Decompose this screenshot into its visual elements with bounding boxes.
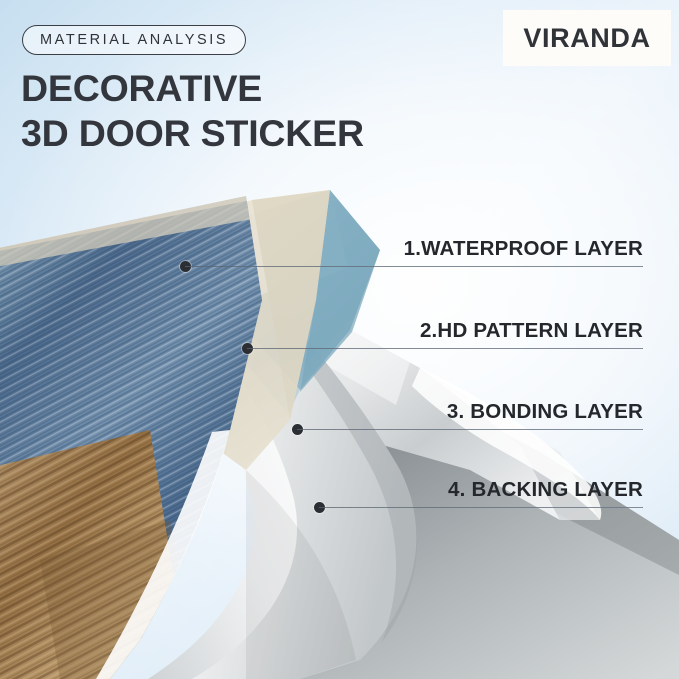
brand-name: VIRANDA <box>523 23 650 54</box>
title-line-2: 3D DOOR STICKER <box>21 111 364 156</box>
brand-logo-box: VIRANDA <box>503 10 671 66</box>
callout-bonding: 3. BONDING LAYER <box>297 396 643 430</box>
poster-canvas: MATERIAL ANALYSIS DECORATIVE 3D DOOR STI… <box>0 0 679 679</box>
page-title: DECORATIVE 3D DOOR STICKER <box>21 66 364 156</box>
callout-hd-pattern: 2.HD PATTERN LAYER <box>247 315 643 349</box>
material-analysis-badge: MATERIAL ANALYSIS <box>22 25 246 55</box>
callout-label-waterproof: 1.WATERPROOF LAYER <box>404 237 643 261</box>
callout-label-backing: 4. BACKING LAYER <box>448 478 643 502</box>
callout-backing: 4. BACKING LAYER <box>319 474 643 508</box>
callout-rule-backing <box>319 507 643 508</box>
callout-rule-hd-pattern <box>247 348 643 349</box>
badge-label: MATERIAL ANALYSIS <box>40 32 228 48</box>
callout-label-hd-pattern: 2.HD PATTERN LAYER <box>420 319 643 343</box>
callout-waterproof: 1.WATERPROOF LAYER <box>185 233 643 267</box>
callout-label-bonding: 3. BONDING LAYER <box>447 400 643 424</box>
callout-rule-bonding <box>297 429 643 430</box>
title-line-1: DECORATIVE <box>21 66 364 111</box>
callout-rule-waterproof <box>185 266 643 267</box>
